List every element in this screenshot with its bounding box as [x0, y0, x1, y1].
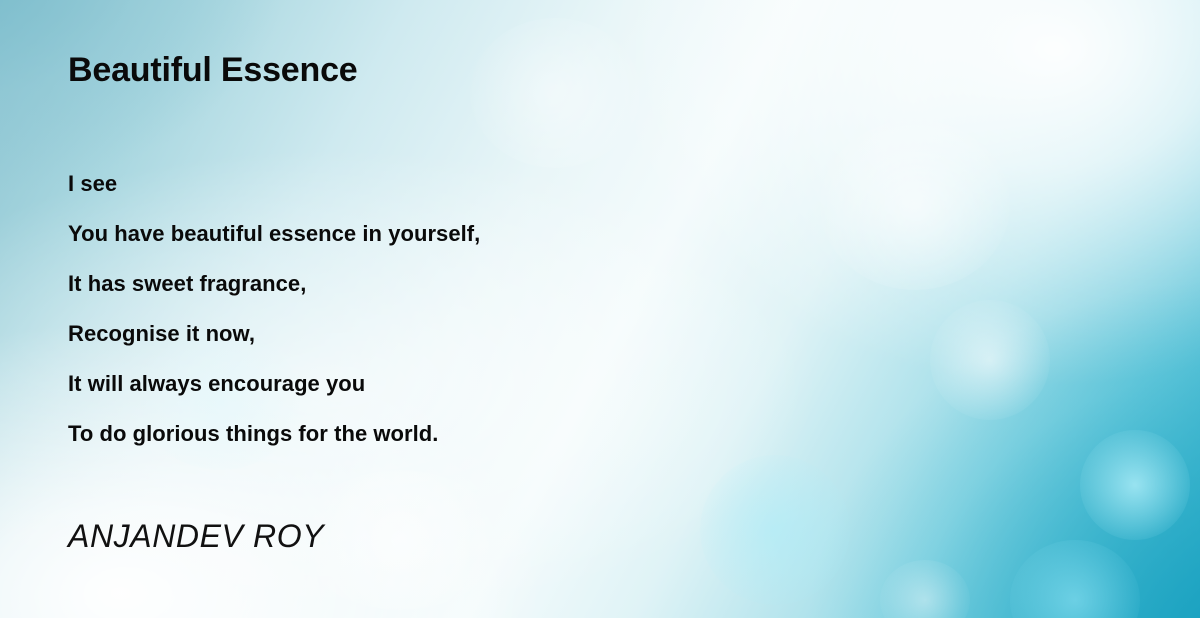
poem-line: It has sweet fragrance,: [68, 259, 480, 309]
poem-line: You have beautiful essence in yourself,: [68, 209, 480, 259]
poem-line: It will always encourage you: [68, 359, 480, 409]
poem-title: Beautiful Essence: [68, 51, 358, 90]
poem-line: I see: [68, 159, 480, 209]
poem-line: Recognise it now,: [68, 309, 480, 359]
poem-content: Beautiful Essence I see You have beautif…: [0, 0, 1200, 618]
poem-line: To do glorious things for the world.: [68, 409, 480, 459]
poem-image-card: Beautiful Essence I see You have beautif…: [0, 0, 1200, 618]
poem-body: I see You have beautiful essence in your…: [68, 159, 480, 459]
poem-author-signature: ANJANDEV ROY: [68, 518, 324, 555]
